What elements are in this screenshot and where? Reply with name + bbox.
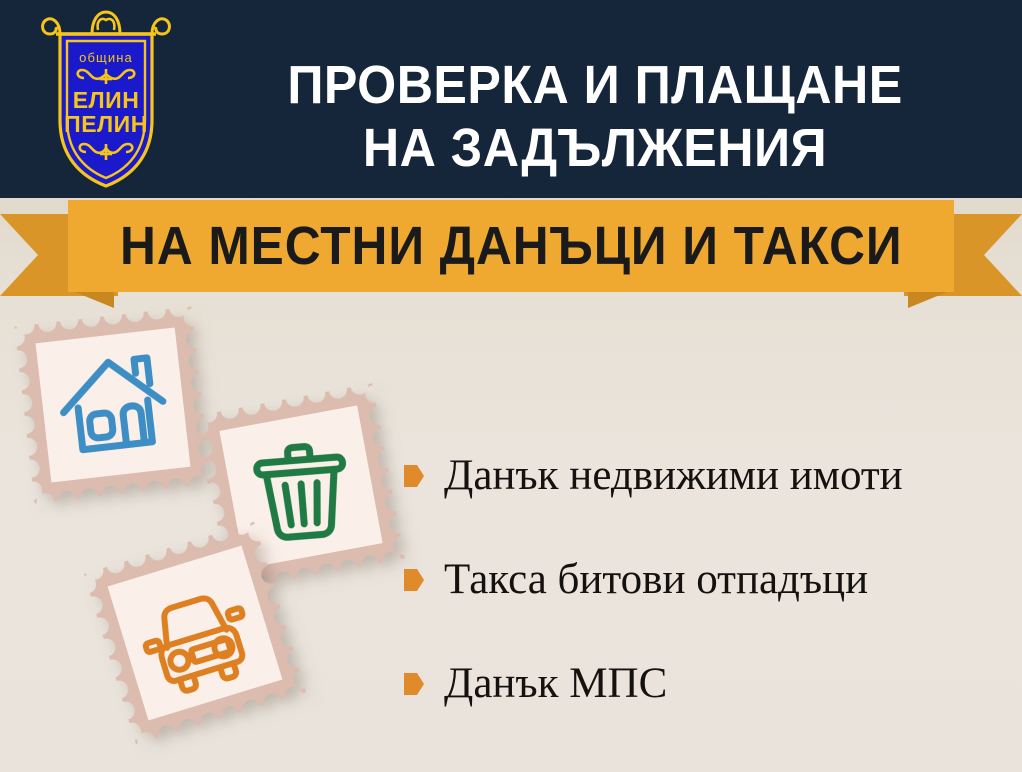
arrow-bullet-icon [404,569,424,591]
list-item-label: Такса битови отпадъци [444,557,868,602]
list-item: Такса битови отпадъци [404,528,1014,632]
poster-canvas: ПРОВЕРКА И ПЛАЩАНЕ НА ЗАДЪЛЖЕНИЯ община [0,0,1022,772]
list-item: Данък МПС [404,632,1014,736]
list-item-label: Данък недвижими имоти [444,453,903,498]
coat-of-arms-icon: община ЕЛИН ПЕЛИН [36,8,176,194]
arrow-bullet-icon [404,465,424,487]
svg-text:община: община [79,50,133,65]
tax-type-list: Данък недвижими имоти Такса битови отпад… [404,424,1014,736]
ribbon-banner: НА МЕСТНИ ДАНЪЦИ И ТАКСИ [68,200,954,292]
svg-text:ЕЛИН: ЕЛИН [73,87,140,113]
list-item: Данък недвижими имоти [404,424,1014,528]
ribbon-banner-text: НА МЕСТНИ ДАНЪЦИ И ТАКСИ [120,219,903,273]
list-item-label: Данък МПС [444,661,667,706]
svg-text:ПЕЛИН: ПЕЛИН [64,111,148,137]
page-title: ПРОВЕРКА И ПЛАЩАНЕ НА ЗАДЪЛЖЕНИЯ [218,54,971,180]
arrow-bullet-icon [404,673,424,695]
stamp-card-house [14,306,211,503]
